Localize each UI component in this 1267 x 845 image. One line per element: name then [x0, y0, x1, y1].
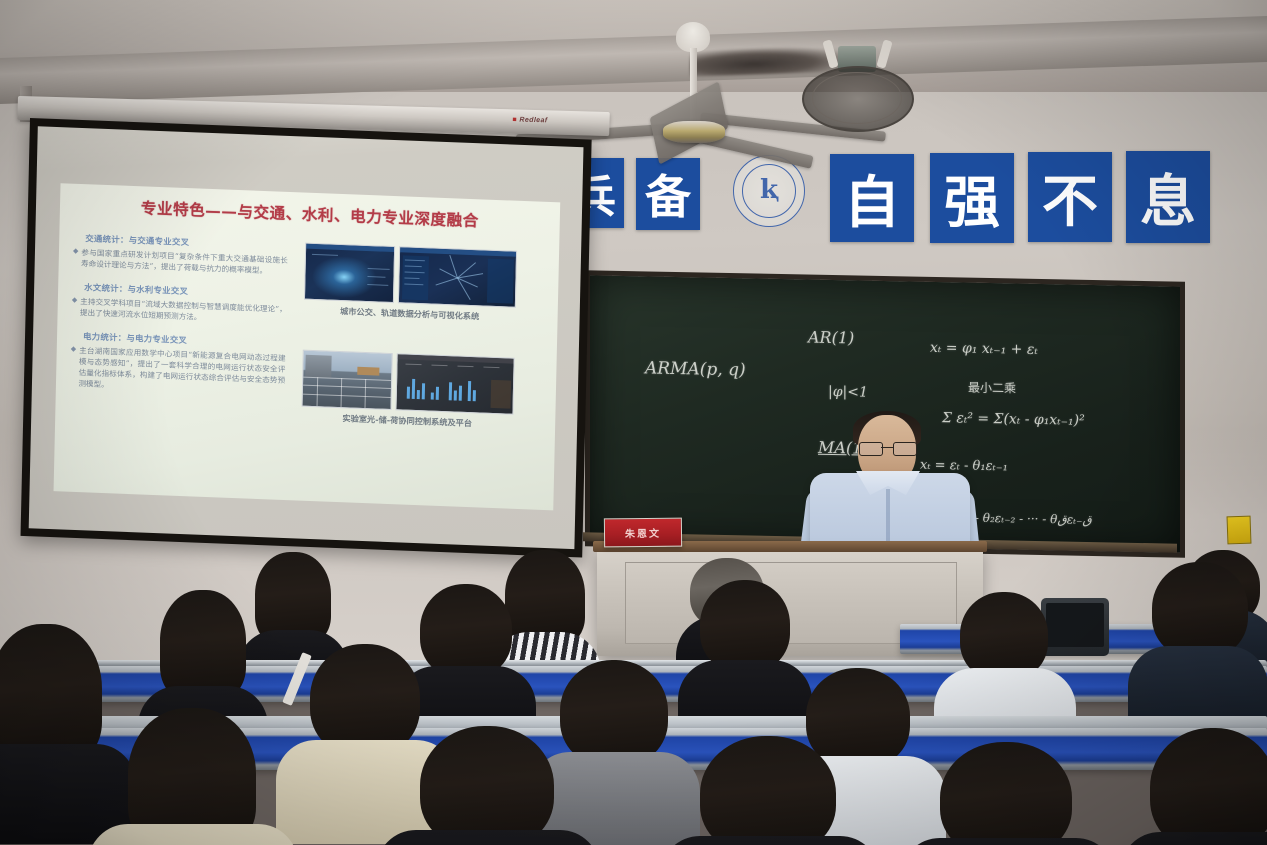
- bullet-marker-icon: ◆: [71, 296, 77, 318]
- banner-char-3: 自: [830, 154, 914, 242]
- banner-char-5: 不: [1028, 152, 1112, 242]
- bullet-text-hydrology: 主持交叉学科项目“流域大数据控制与智慧调度能优化理论”，提出了快速河流水位短期预…: [80, 296, 287, 326]
- bullet-hydrology: ◆ 主持交叉学科项目“流域大数据控制与智慧调度能优化理论”，提出了快速河流水位短…: [71, 296, 286, 326]
- screen-brand-label: ■ Redleaf: [512, 116, 547, 124]
- bullet-power: ◆ 主台湖南国家应用数学中心项目“新能源复合电网动态过程建模与态势感知”，提出了…: [70, 345, 286, 397]
- presentation-slide: 专业特色——与交通、水利、电力专业深度融合 交通统计：与交通专业交叉 ◆ 参与国…: [54, 183, 561, 510]
- figure-caption-transit: 城市公交、轨道数据分析与可视化系统: [304, 304, 516, 324]
- banner-char-4: 强: [930, 153, 1014, 243]
- bullet-text-power: 主台湖南国家应用数学中心项目“新能源复合电网动态过程建模与态势感知”，提出了一套…: [78, 345, 285, 397]
- logo-mark: ⱪ: [760, 175, 778, 205]
- slide-title: 专业特色——与交通、水利、电力专业深度融合: [60, 193, 560, 234]
- figure-group-transit: 城市公交、轨道数据分析与可视化系统: [304, 243, 518, 324]
- photo-solar-panel-field: [302, 350, 393, 410]
- screenshot-energy-dashboard: [395, 353, 514, 415]
- chalk-note-3: |φ|<1: [828, 384, 868, 401]
- figure-caption-energy: 实验室光-储-荷协同控制系统及平台: [301, 411, 513, 431]
- ceiling-fan-hub: [663, 121, 725, 143]
- crt-monitor: [1041, 598, 1109, 656]
- figure-group-energy: 实验室光-储-荷协同控制系统及平台: [301, 350, 515, 431]
- glasses-icon: [859, 442, 915, 454]
- audience-area: [0, 540, 1267, 845]
- brand-name: Redleaf: [519, 117, 547, 125]
- bullet-marker-icon: ◆: [70, 345, 76, 389]
- bullet-text-traffic: 参与国家重点研发计划项目“复杂条件下重大交通基础设施长寿命设计理论与方法”，提出…: [81, 247, 288, 277]
- screenshot-traffic-flow: [304, 243, 395, 303]
- chalk-note-4: 最小二乘: [968, 379, 1016, 397]
- projection-surface: 专业特色——与交通、水利、电力专业深度融合 交通统计：与交通专业交叉 ◆ 参与国…: [29, 126, 584, 549]
- banner-char-2: 备: [636, 158, 700, 230]
- bullet-marker-icon: ◆: [73, 247, 79, 269]
- chalk-note-0: ARMA(p, q): [645, 358, 746, 380]
- lecture-hall-photo: 兵 备 ⱪ 自 强 不 息 ARMA(p, q) AR(1) xₜ = φ₁ x…: [0, 0, 1267, 845]
- banner-char-6: 息: [1126, 151, 1210, 243]
- chalk-note-1: AR(1): [808, 328, 854, 348]
- projection-screen-frame: 专业特色——与交通、水利、电力专业深度融合 交通统计：与交通专业交叉 ◆ 参与国…: [21, 118, 592, 557]
- school-emblem-logo: ⱪ: [733, 155, 805, 227]
- brand-dot-icon: ■: [512, 116, 517, 123]
- bullet-traffic: ◆ 参与国家重点研发计划项目“复杂条件下重大交通基础设施长寿命设计理论与方法”，…: [73, 247, 288, 277]
- slide-text-column: 交通统计：与交通专业交叉 ◆ 参与国家重点研发计划项目“复杂条件下重大交通基础设…: [70, 232, 289, 409]
- chalk-note-2: xₜ = φ₁ xₜ₋₁ + εₜ: [930, 340, 1038, 358]
- screenshot-network-radial: [398, 246, 517, 308]
- wall-mounted-fan: [802, 32, 912, 128]
